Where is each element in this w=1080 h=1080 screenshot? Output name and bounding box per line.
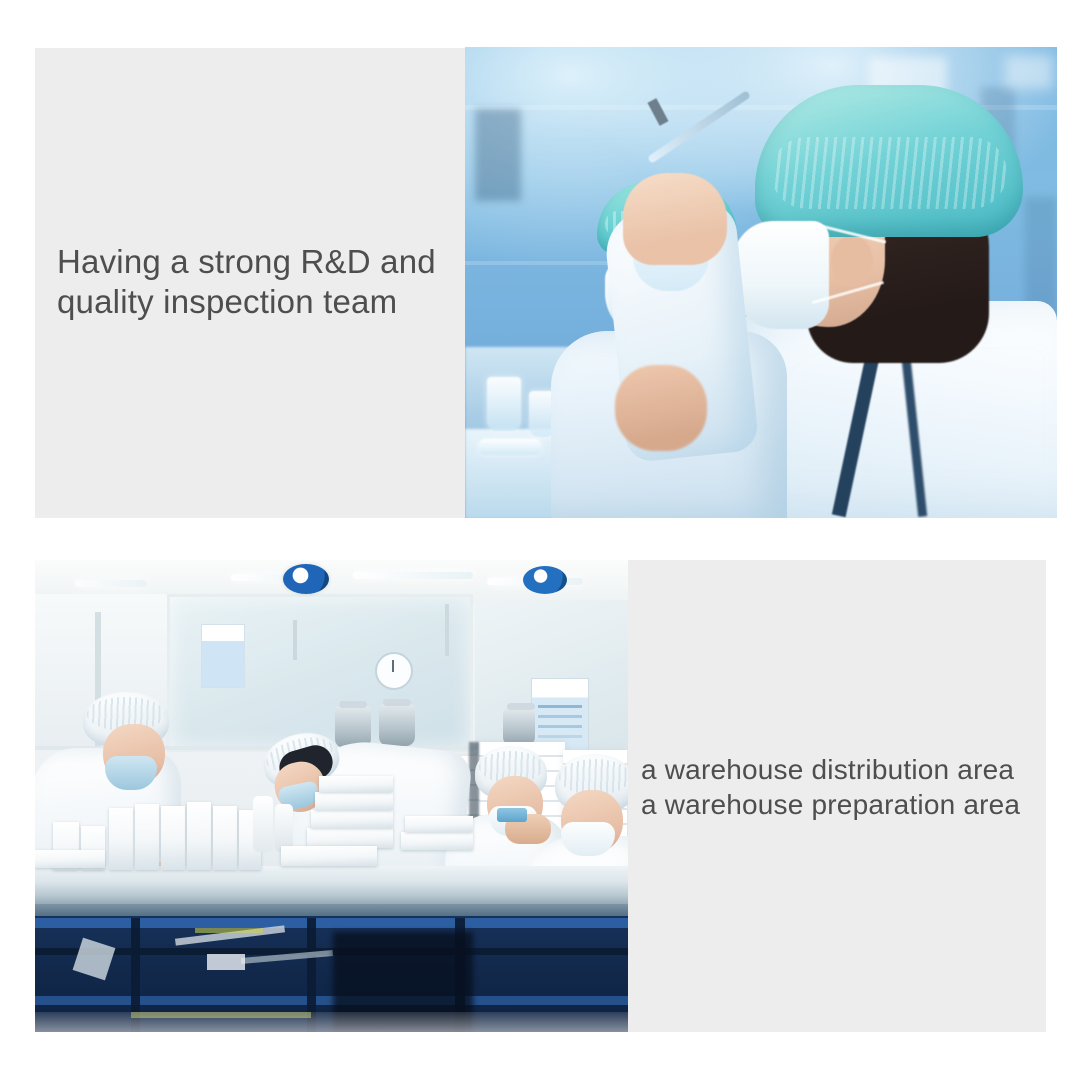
carton-box-icon	[213, 806, 237, 870]
blue-label-card	[497, 808, 527, 822]
carton-box-icon	[307, 828, 393, 848]
warehouse-caption: a warehouse distribution area a warehous…	[641, 752, 1051, 822]
ceiling-light-icon	[353, 572, 473, 579]
rd-quality-caption: Having a strong R&D and quality inspecti…	[57, 242, 457, 322]
warehouse-photo	[35, 560, 628, 1032]
paper-sheet	[207, 954, 245, 970]
pipette-tip	[647, 98, 668, 126]
company-logo-icon	[283, 564, 329, 594]
carton-box-icon	[161, 806, 185, 870]
notice-board	[201, 624, 245, 688]
hanging-hook	[293, 620, 297, 660]
table-frame-rail	[35, 996, 628, 1005]
surgical-cap-icon	[755, 85, 1023, 237]
rd-quality-photo	[465, 47, 1057, 518]
carton-box-icon	[315, 792, 393, 810]
wall-clock-icon	[375, 652, 413, 690]
page-canvas: Having a strong R&D and quality inspecti…	[0, 0, 1080, 1080]
lab-wall-shadow	[475, 109, 521, 201]
warehouse-scene	[35, 560, 628, 1032]
carton-box-icon	[35, 850, 105, 868]
carton-box-icon	[109, 808, 133, 870]
lab-dish-icon	[479, 439, 541, 455]
bottle-icon	[253, 796, 273, 852]
lab-scene	[465, 47, 1057, 518]
hanging-hook	[445, 604, 449, 656]
ceiling-light-icon	[75, 580, 147, 587]
company-logo-icon	[523, 566, 567, 594]
carton-box-icon	[405, 816, 473, 832]
face-mask-icon	[561, 822, 615, 856]
carton-box-icon	[401, 832, 473, 850]
ear	[831, 235, 873, 287]
floor-marking	[195, 928, 263, 933]
bottle-icon	[275, 804, 293, 852]
carton-box-icon	[319, 776, 393, 792]
lab-beaker-icon	[487, 377, 521, 431]
stainless-steel-table-top	[35, 866, 628, 906]
carton-box-icon	[311, 810, 393, 828]
carton-box-icon	[135, 804, 159, 870]
carton-box-icon	[281, 846, 377, 866]
gloved-hand	[623, 173, 727, 265]
carton-box-icon	[187, 802, 211, 870]
floor-highlight	[35, 1012, 628, 1032]
table-frame-rail	[35, 918, 628, 928]
hand-holding-sample	[615, 365, 707, 451]
